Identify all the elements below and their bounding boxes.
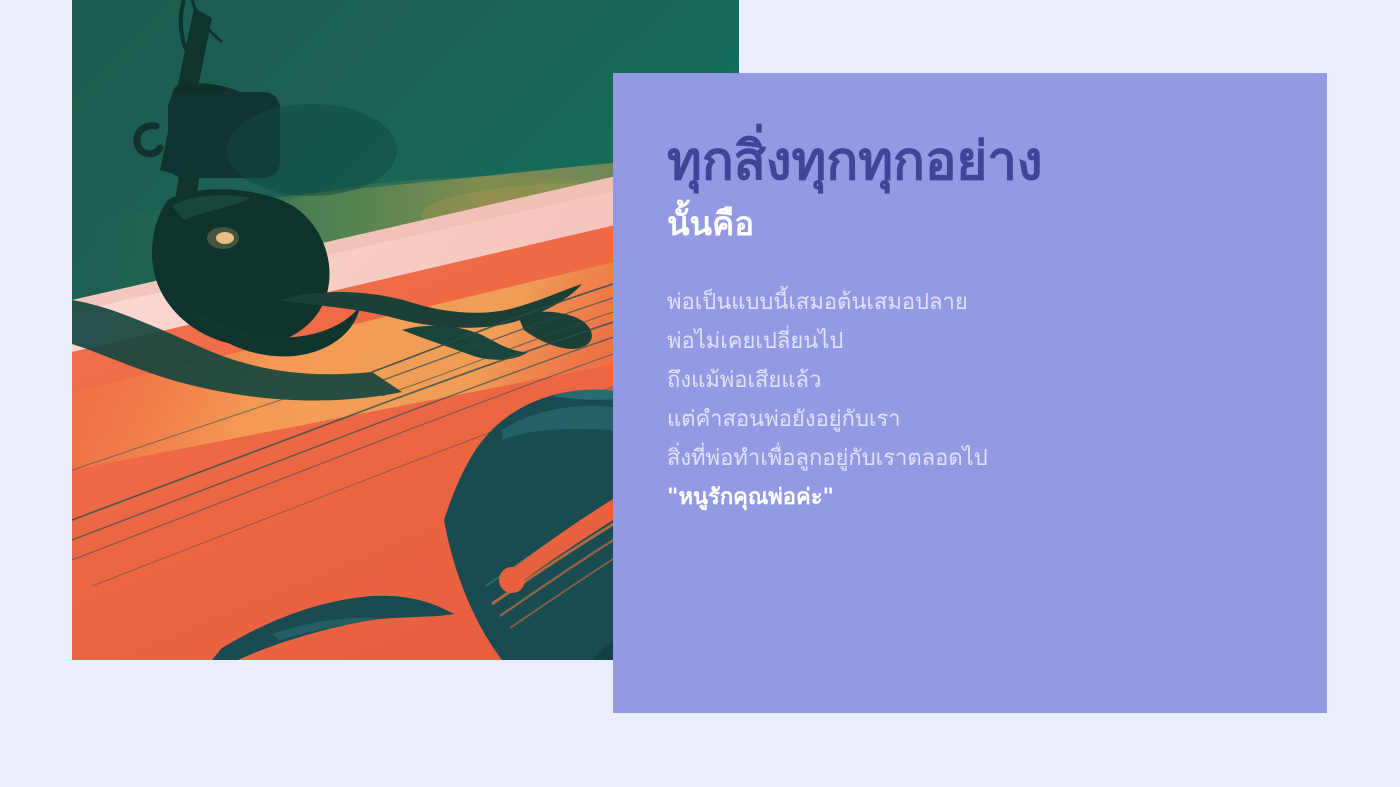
slide-subtitle: นั้นคือ (667, 204, 1297, 244)
slide-canvas: ทุกสิ่งทุกทุกอย่าง นั้นคือ พ่อเป็นแบบนี้… (0, 0, 1400, 787)
slide-body: พ่อเป็นแบบนี้เสมอต้นเสมอปลาย พ่อไม่เคยเป… (667, 283, 1297, 517)
body-line: แต่คำสอนพ่อยังอยู่กับเรา (667, 400, 1297, 439)
purple-content-panel: ทุกสิ่งทุกทุกอย่าง นั้นคือ พ่อเป็นแบบนี้… (613, 73, 1327, 713)
body-line-emphasis: "หนูรักคุณพ่อค่ะ" (667, 478, 1297, 517)
body-line: พ่อไม่เคยเปลี่ยนไป (667, 322, 1297, 361)
body-line: สิ่งที่พ่อทำเพื่อลูกอยู่กับเราตลอดไป (667, 439, 1297, 478)
panel-content: ทุกสิ่งทุกทุกอย่าง นั้นคือ พ่อเป็นแบบนี้… (667, 131, 1297, 517)
body-line: พ่อเป็นแบบนี้เสมอต้นเสมอปลาย (667, 283, 1297, 322)
slide-title: ทุกสิ่งทุกทุกอย่าง (667, 131, 1297, 194)
body-line: ถึงแม้พ่อเสียแล้ว (667, 361, 1297, 400)
